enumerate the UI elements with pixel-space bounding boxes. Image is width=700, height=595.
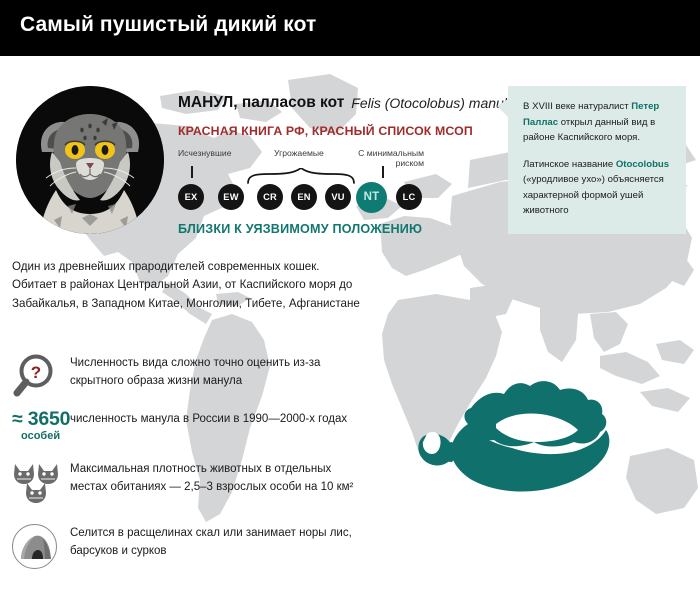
fact-population-estimate-text: Численность вида сложно точно оценить из… — [70, 352, 362, 391]
status-dot-ew[interactable]: EW — [218, 184, 244, 210]
callout-tail — [497, 99, 508, 117]
species-header: МАНУЛ, палласов кот Felis (Otocolobus) m… — [178, 92, 498, 138]
status-dot-nt[interactable]: NT — [356, 182, 387, 213]
fact-russia-population-text: численность манула в России в 1990—2000-… — [70, 408, 347, 428]
fact-density-text: Максимальная плотность животных в отдель… — [70, 458, 362, 497]
callout-p2-before: Латинское название — [523, 159, 616, 170]
page-title: Самый пушистый дикий кот — [20, 13, 316, 37]
population-number: ≈ 3650 особей — [12, 408, 70, 442]
cat-faces-icon — [12, 458, 70, 504]
conservation-status-scale: Исчезнувшие Угрожаемые С минимальным рис… — [178, 148, 488, 228]
status-dot-ex[interactable]: EX — [178, 184, 204, 210]
tick-extinct — [191, 166, 193, 178]
species-name-row: МАНУЛ, палласов кот Felis (Otocolobus) m… — [178, 92, 498, 113]
fact-population-estimate: ? Численность вида сложно точно оценить … — [12, 352, 362, 398]
status-dot-en[interactable]: EN — [291, 184, 317, 210]
fact-den-text: Селится в расщелинах скал или занимает н… — [70, 522, 362, 561]
fact-den: Селится в расщелинах скал или занимает н… — [12, 522, 362, 569]
fact-russia-population: ≈ 3650 особей численность манула в Росси… — [12, 408, 362, 442]
scale-label-least-concern: С минимальным риском — [346, 148, 424, 169]
population-unit: особей — [21, 430, 70, 442]
callout-p2-after: («уродливое ухо») объясняется характерно… — [523, 174, 664, 216]
svg-text:?: ? — [31, 363, 41, 382]
species-common-name: МАНУЛ, палласов кот — [178, 94, 344, 112]
rock-den-icon — [12, 522, 70, 569]
threatened-brace-icon — [246, 168, 356, 184]
status-tagline: БЛИЗКИ К УЯЗВИМОМУ ПОЛОЖЕНИЮ — [178, 222, 422, 236]
species-latin-name: Felis (Otocolobus) manul — [351, 95, 507, 111]
status-dot-cr[interactable]: CR — [257, 184, 283, 210]
scale-label-threatened: Угрожаемые — [274, 148, 324, 158]
status-dot-lc[interactable]: LC — [396, 184, 422, 210]
magnifier-question-icon: ? — [12, 352, 70, 398]
scale-label-extinct: Исчезнувшие — [178, 148, 231, 158]
info-callout: В XVIII веке натуралист Петер Паллас отк… — [508, 86, 686, 234]
callout-p1-before: В XVIII веке натуралист — [523, 101, 631, 112]
callout-p2-highlight: Otocolobus — [616, 159, 669, 170]
callout-paragraph-2: Латинское название Otocolobus («уродливо… — [523, 157, 673, 219]
fact-density: Максимальная плотность животных в отдель… — [12, 458, 362, 504]
tick-least-concern — [382, 166, 384, 178]
status-dot-vu[interactable]: VU — [325, 184, 351, 210]
population-count: ≈ 3650 — [12, 408, 70, 431]
red-book-status: КРАСНАЯ КНИГА РФ, КРАСНЫЙ СПИСОК МСОП — [178, 124, 498, 138]
pallas-cat-portrait — [16, 86, 164, 234]
intro-paragraph: Один из древнейших прародителей современ… — [12, 258, 362, 313]
callout-paragraph-1: В XVIII веке натуралист Петер Паллас отк… — [523, 99, 673, 146]
